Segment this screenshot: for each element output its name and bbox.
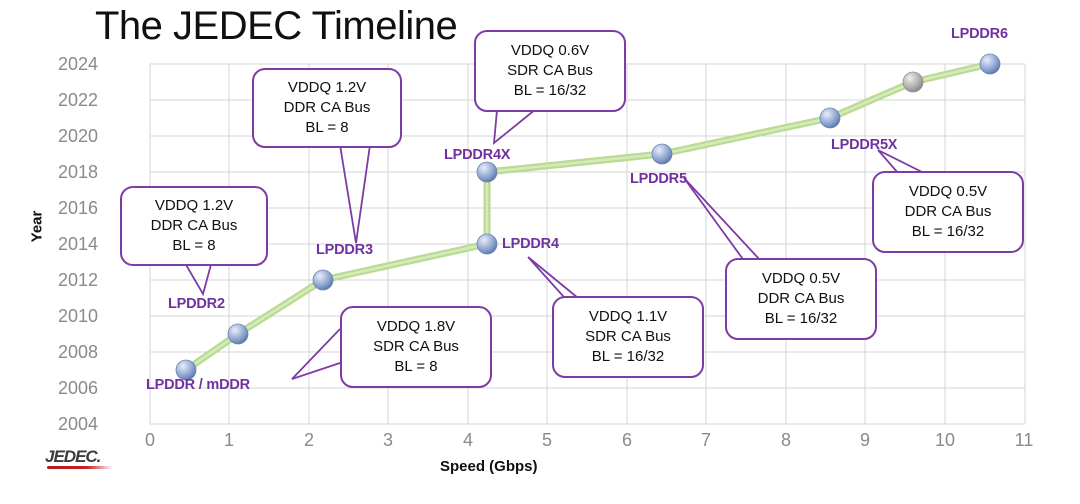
point-label-lpddr6: LPDDR6: [951, 26, 1008, 42]
point-label-lpddr5x: LPDDR5X: [831, 137, 897, 153]
callout-lpddr4x: VDDQ 0.6V SDR CA Bus BL = 16/32: [474, 30, 626, 112]
callout-lpddr5-line1: VDDQ 0.5V: [762, 269, 840, 289]
marker-lpddr2[interactable]: [228, 324, 248, 344]
callout-lpddr5x-line2: DDR CA Bus: [905, 202, 992, 222]
callout-lpddr4-line3: BL = 16/32: [592, 347, 664, 367]
callout-lpddr3-line2: DDR CA Bus: [284, 98, 371, 118]
callout-lpddr3: VDDQ 1.2V DDR CA Bus BL = 8: [252, 68, 402, 148]
jedec-logo-underline: [47, 466, 113, 469]
marker-lpddr3[interactable]: [313, 270, 333, 290]
callout-lpddr3-line3: BL = 8: [305, 118, 348, 138]
callout-lpddr4: VDDQ 1.1V SDR CA Bus BL = 16/32: [552, 296, 704, 378]
callout-lpddr5x-line1: VDDQ 0.5V: [909, 182, 987, 202]
callout-lpddr4x-line2: SDR CA Bus: [507, 61, 593, 81]
callout-lpddr-line3: BL = 8: [394, 357, 437, 377]
jedec-logo-text: JEDEC.: [45, 447, 100, 467]
leader-lpddr4x: [494, 109, 536, 143]
callout-lpddr5x: VDDQ 0.5V DDR CA Bus BL = 16/32: [872, 171, 1024, 253]
point-label-lpddr3: LPDDR3: [316, 242, 373, 258]
jedec-logo: JEDEC.: [45, 447, 119, 473]
point-label-lpddr: LPDDR / mDDR: [146, 377, 250, 393]
callout-lpddr4-line2: SDR CA Bus: [585, 327, 671, 347]
point-label-lpddr2: LPDDR2: [168, 296, 225, 312]
leader-lpddr3: [340, 145, 370, 243]
point-label-lpddr4x: LPDDR4X: [444, 147, 510, 163]
callout-lpddr2-line3: BL = 8: [172, 236, 215, 256]
callout-lpddr2-line2: DDR CA Bus: [151, 216, 238, 236]
callout-lpddr4x-line1: VDDQ 0.6V: [511, 41, 589, 61]
marker-lpddr5x[interactable]: [820, 108, 840, 128]
point-label-lpddr5: LPDDR5: [630, 171, 687, 187]
callout-lpddr4-line1: VDDQ 1.1V: [589, 307, 667, 327]
callout-lpddr-line1: VDDQ 1.8V: [377, 317, 455, 337]
marker-lpddr4x[interactable]: [477, 162, 497, 182]
leader-lpddr5: [684, 178, 760, 262]
marker-lpddr4[interactable]: [477, 234, 497, 254]
marker-lpddr6[interactable]: [980, 54, 1000, 74]
marker-unlabeled-grey[interactable]: [903, 72, 923, 92]
callout-lpddr: VDDQ 1.8V SDR CA Bus BL = 8: [340, 306, 492, 388]
callout-lpddr2: VDDQ 1.2V DDR CA Bus BL = 8: [120, 186, 268, 266]
callout-lpddr5x-line3: BL = 16/32: [912, 222, 984, 242]
callout-lpddr3-line1: VDDQ 1.2V: [288, 78, 366, 98]
callout-lpddr2-line1: VDDQ 1.2V: [155, 196, 233, 216]
chart-canvas: The JEDEC Timeline Year Speed (Gbps) 202…: [0, 0, 1080, 504]
callout-lpddr5: VDDQ 0.5V DDR CA Bus BL = 16/32: [725, 258, 877, 340]
leader-lpddr: [292, 329, 343, 379]
callout-lpddr5-line2: DDR CA Bus: [758, 289, 845, 309]
callout-lpddr4x-line3: BL = 16/32: [514, 81, 586, 101]
point-label-lpddr4: LPDDR4: [502, 236, 559, 252]
marker-lpddr5[interactable]: [652, 144, 672, 164]
callout-lpddr5-line3: BL = 16/32: [765, 309, 837, 329]
callout-lpddr-line2: SDR CA Bus: [373, 337, 459, 357]
